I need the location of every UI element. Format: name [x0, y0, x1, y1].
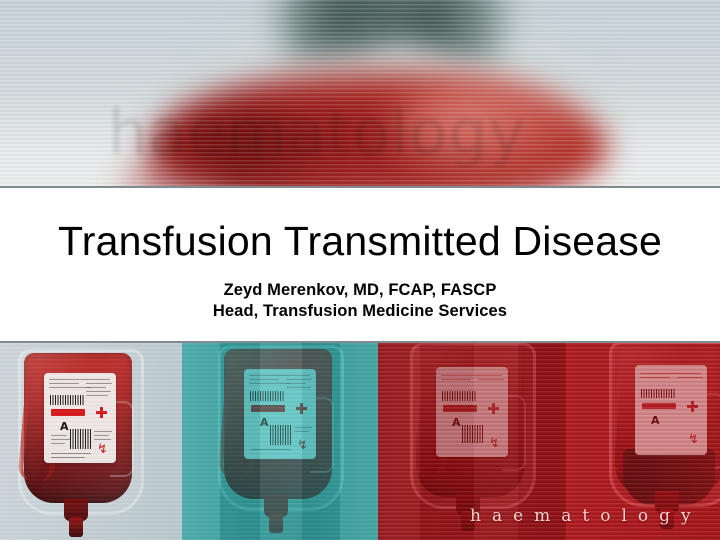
bag-label-barcode: [641, 389, 675, 398]
bottom-haematology-watermark: haematology: [470, 506, 702, 526]
bag-label-blood-type: A: [60, 421, 69, 432]
panel-blood-bag-teal: A ↯: [182, 343, 378, 540]
bag-label-blood-type: A: [651, 415, 660, 426]
bag-label: A ↯: [635, 365, 707, 455]
bag-outlet-port: [269, 513, 283, 533]
bag-label-red-bar: [251, 405, 285, 412]
bag-label-barcode: [442, 391, 476, 401]
presentation-slide: haematology Transfusion Transmitted Dise…: [0, 0, 720, 540]
blood-bag-graphic: A ↯: [605, 343, 720, 527]
bag-outlet-port: [69, 517, 83, 537]
bag-label: A ↯: [44, 373, 116, 463]
blood-bag-graphic: A ↯: [14, 349, 142, 535]
bag-label: A ↯: [436, 367, 508, 457]
top-haematology-watermark: haematology: [108, 96, 720, 169]
presenter-role-department: Head, Transfusion Medicine Services: [0, 301, 720, 322]
blood-bag-graphic: A ↯: [406, 343, 534, 529]
bag-label: A ↯: [244, 369, 316, 459]
bag-label-red-bar: [443, 405, 477, 412]
bag-label-barcode: [250, 391, 284, 401]
bag-label-blood-type: A: [452, 417, 461, 428]
top-blurred-photo-band: haematology: [0, 0, 720, 188]
page-title: Transfusion Transmitted Disease: [0, 218, 720, 265]
panel-blood-bag-natural: A ↯: [0, 343, 182, 540]
blood-bag-graphic: A ↯: [214, 345, 342, 531]
bag-label-barcode: [50, 395, 84, 405]
bag-label-red-bar: [51, 409, 85, 416]
bag-label-red-bar: [642, 403, 676, 409]
title-text-box: Transfusion Transmitted Disease Zeyd Mer…: [0, 186, 720, 343]
presenter-name-credentials: Zeyd Merenkov, MD, FCAP, FASCP: [0, 280, 720, 301]
subtitle-block: Zeyd Merenkov, MD, FCAP, FASCP Head, Tra…: [0, 280, 720, 322]
bag-label-blood-type: A: [260, 417, 269, 428]
